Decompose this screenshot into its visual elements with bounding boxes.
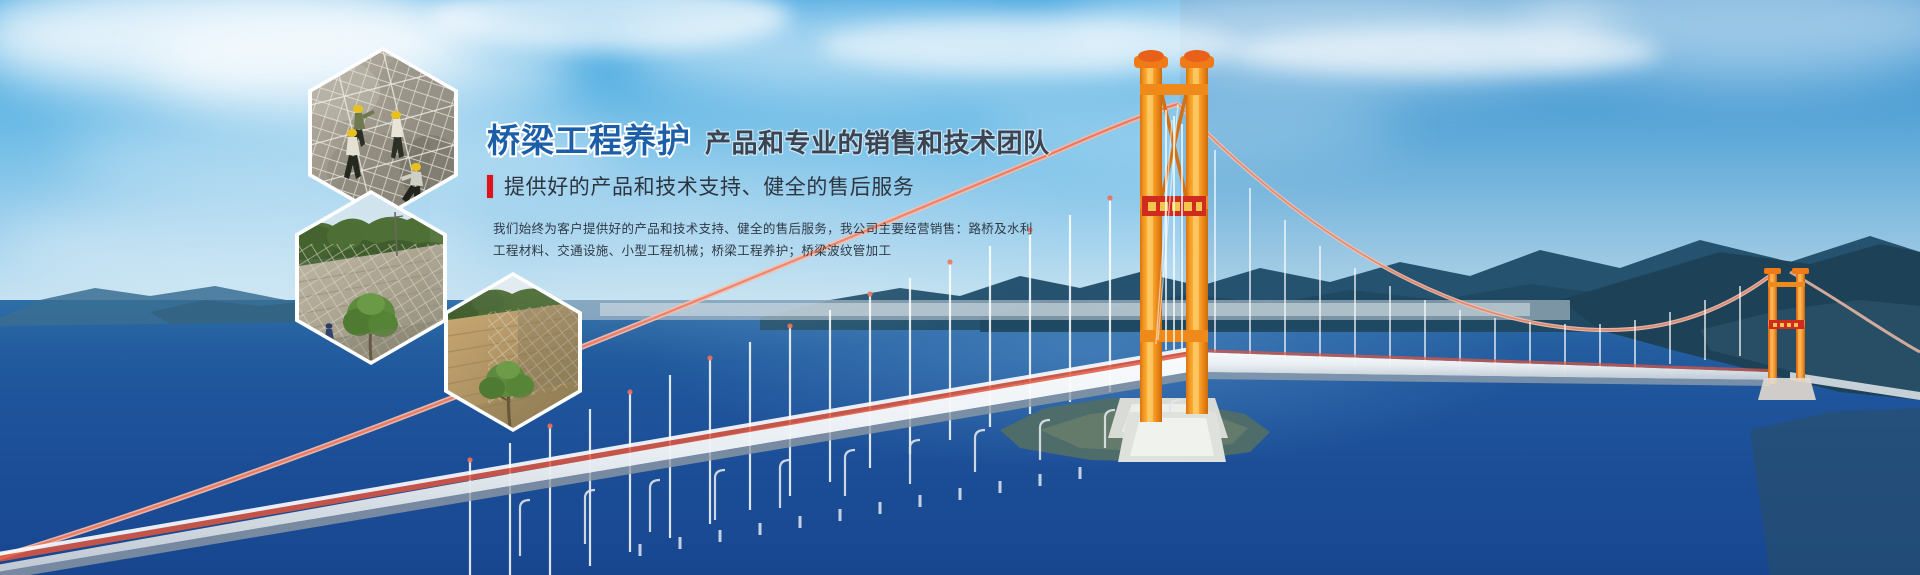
accent-bar-icon [487, 175, 493, 198]
hex-photo-2-image [299, 194, 443, 361]
body-line-2: 工程材料、交通设施、小型工程机械；桥梁工程养护；桥梁波纹管加工 [493, 241, 1007, 263]
suspension-bridge [0, 0, 1920, 575]
bridge-tower-near [1118, 50, 1226, 462]
hex-photo-1-image [312, 51, 454, 215]
bridge-tower-far [1758, 268, 1816, 400]
body-line-1: 我们始终为客户提供好的产品和技术支持、健全的售后服务，我公司主要经营销售：路桥及… [493, 219, 1007, 241]
subheadline: 提供好的产品和技术支持、健全的售后服务 [487, 171, 1007, 201]
hex-photo-3-image [448, 276, 578, 428]
subheadline-text: 提供好的产品和技术支持、健全的售后服务 [504, 171, 914, 201]
headline: 桥梁工程养护 产品和专业的销售和技术团队 [487, 124, 1007, 157]
headline-sub: 产品和专业的销售和技术团队 [705, 130, 1050, 156]
body-text: 我们始终为客户提供好的产品和技术支持、健全的售后服务，我公司主要经营销售：路桥及… [493, 219, 1007, 262]
hero-banner: 桥梁工程养护 产品和专业的销售和技术团队 提供好的产品和技术支持、健全的售后服务… [0, 0, 1920, 575]
banner-copy: 桥梁工程养护 产品和专业的销售和技术团队 提供好的产品和技术支持、健全的售后服务… [487, 124, 1007, 262]
headline-main: 桥梁工程养护 [487, 124, 691, 157]
